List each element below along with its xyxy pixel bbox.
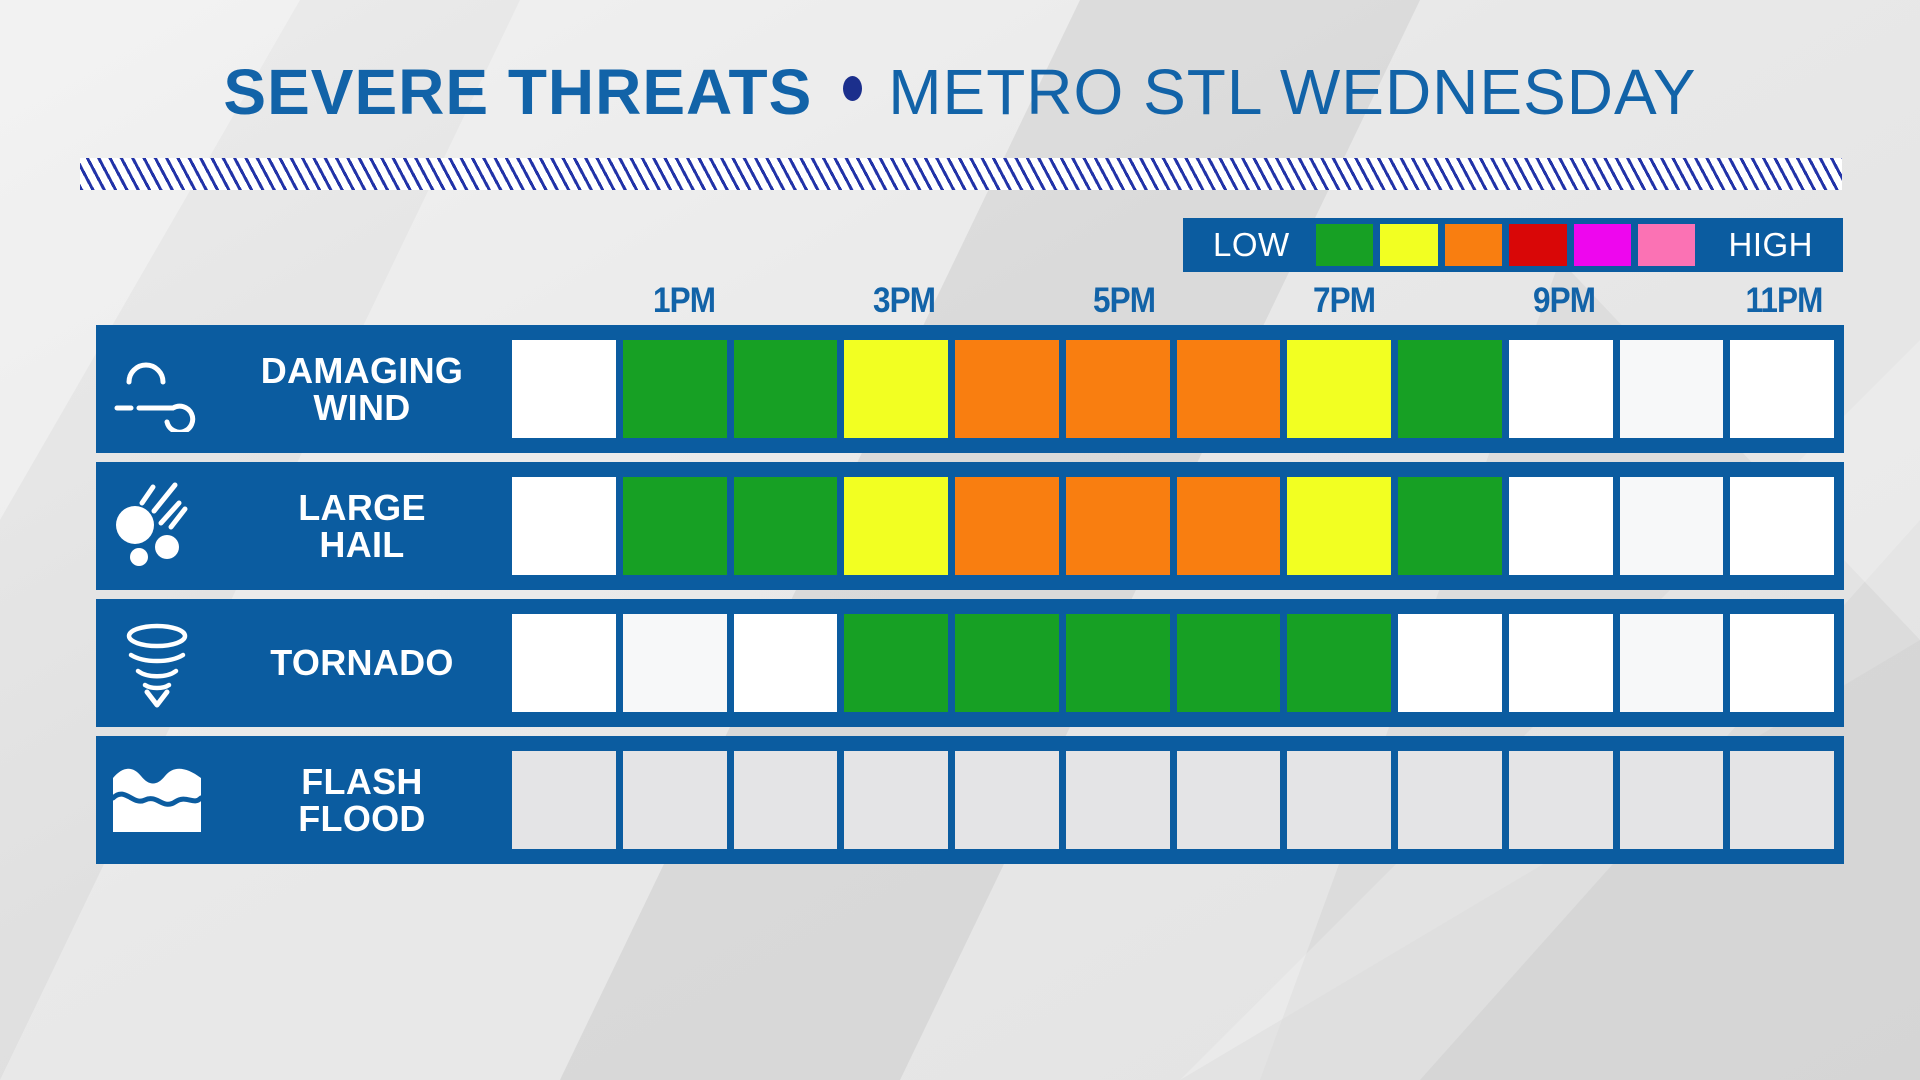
threat-row: FLASHFLOOD — [96, 736, 1844, 864]
threat-cell-none — [1730, 477, 1834, 575]
threat-cell-orange — [1177, 477, 1281, 575]
threat-cell-green — [1398, 340, 1502, 438]
threat-cell-gray — [512, 751, 616, 849]
threat-row: LARGEHAIL — [96, 462, 1844, 590]
threat-cell-none — [1730, 340, 1834, 438]
threat-cell-gray — [1730, 751, 1834, 849]
threat-cell-gray — [1398, 751, 1502, 849]
title-primary: SEVERE THREATS — [223, 56, 812, 128]
threat-cell-none — [1509, 340, 1613, 438]
legend-swatch-orange — [1445, 224, 1502, 266]
threat-row-label: TORNADO — [218, 644, 512, 681]
threat-cell-none — [512, 477, 616, 575]
threat-cell-none — [1509, 614, 1613, 712]
legend-swatch-yellow — [1380, 224, 1437, 266]
threat-cell-gray — [844, 751, 948, 849]
threat-cell-green — [844, 614, 948, 712]
threat-cell-gray — [1620, 751, 1724, 849]
threat-cell-gray — [623, 751, 727, 849]
threat-cell-orange — [1177, 340, 1281, 438]
threat-cell-none — [512, 614, 616, 712]
threat-cell-green — [1398, 477, 1502, 575]
threat-cell-gray — [1287, 751, 1391, 849]
legend-swatch-pink — [1638, 224, 1695, 266]
threat-cell-green — [1287, 614, 1391, 712]
threat-label-line2: HAIL — [298, 526, 426, 563]
legend-swatch-magenta — [1574, 224, 1631, 266]
threat-row: DAMAGINGWIND — [96, 325, 1844, 453]
threat-cell-gray — [1509, 751, 1613, 849]
threat-cell-orange — [1066, 477, 1170, 575]
threat-cell-gray — [955, 751, 1059, 849]
threat-cell-gray — [734, 751, 838, 849]
severity-legend: LOW HIGH — [1183, 218, 1843, 272]
time-tick-1pm: 1PM — [653, 281, 715, 321]
threat-cell-green — [1177, 614, 1281, 712]
threat-cell-track — [512, 599, 1844, 727]
threat-cell-none — [623, 614, 727, 712]
hatch-divider — [80, 158, 1842, 190]
threat-label-line1: FLASH — [298, 763, 425, 800]
threat-cell-none — [1620, 614, 1724, 712]
threat-row-label: LARGEHAIL — [218, 489, 512, 564]
threat-cell-none — [1730, 614, 1834, 712]
time-axis: 1PM3PM5PM7PM9PM11PM — [519, 281, 1839, 323]
threat-cell-yellow — [844, 340, 948, 438]
threat-cell-none — [1620, 477, 1724, 575]
threat-label-line2: WIND — [261, 389, 463, 426]
legend-high-label: HIGH — [1728, 226, 1813, 264]
legend-swatch-green — [1316, 224, 1373, 266]
threat-cell-yellow — [844, 477, 948, 575]
threat-cell-track — [512, 325, 1844, 453]
threat-label-line2: FLOOD — [298, 800, 425, 837]
bullet-dot-icon — [843, 76, 862, 101]
header: SEVERE THREATS METRO STL WEDNESDAY — [0, 0, 1920, 200]
threat-cell-green — [623, 477, 727, 575]
threat-cell-yellow — [1287, 340, 1391, 438]
threat-cell-green — [623, 340, 727, 438]
threat-row-label: FLASHFLOOD — [218, 763, 512, 838]
threat-label-line1: DAMAGING — [261, 352, 463, 389]
hail-icon — [96, 462, 218, 590]
flood-icon — [96, 736, 218, 864]
wind-icon — [96, 325, 218, 453]
threat-cell-green — [734, 340, 838, 438]
legend-low-label: LOW — [1213, 226, 1290, 264]
threat-grid: DAMAGINGWINDLARGEHAILTORNADOFLASHFLOOD — [96, 325, 1844, 873]
threat-cell-gray — [1066, 751, 1170, 849]
threat-cell-none — [512, 340, 616, 438]
threat-label-line1: TORNADO — [270, 644, 453, 681]
threat-cell-yellow — [1287, 477, 1391, 575]
threat-cell-gray — [1177, 751, 1281, 849]
threat-cell-orange — [955, 340, 1059, 438]
legend-swatch-red — [1509, 224, 1566, 266]
time-tick-3pm: 3PM — [873, 281, 935, 321]
time-tick-7pm: 7PM — [1313, 281, 1375, 321]
time-tick-11pm: 11PM — [1746, 281, 1823, 321]
threat-row-label: DAMAGINGWIND — [218, 352, 512, 427]
time-tick-5pm: 5PM — [1093, 281, 1155, 321]
threat-row: TORNADO — [96, 599, 1844, 727]
tornado-icon — [96, 599, 218, 727]
threat-cell-orange — [1066, 340, 1170, 438]
threat-cell-none — [734, 614, 838, 712]
page-title: SEVERE THREATS METRO STL WEDNESDAY — [0, 60, 1920, 124]
threat-cell-orange — [955, 477, 1059, 575]
threat-label-line1: LARGE — [298, 489, 426, 526]
threat-cell-green — [1066, 614, 1170, 712]
threat-cell-green — [955, 614, 1059, 712]
threat-cell-track — [512, 736, 1844, 864]
title-secondary: METRO STL WEDNESDAY — [888, 56, 1696, 128]
threat-cell-none — [1509, 477, 1613, 575]
threat-cell-green — [734, 477, 838, 575]
threat-cell-none — [1398, 614, 1502, 712]
threat-cell-track — [512, 462, 1844, 590]
time-tick-9pm: 9PM — [1533, 281, 1595, 321]
threat-cell-none — [1620, 340, 1724, 438]
